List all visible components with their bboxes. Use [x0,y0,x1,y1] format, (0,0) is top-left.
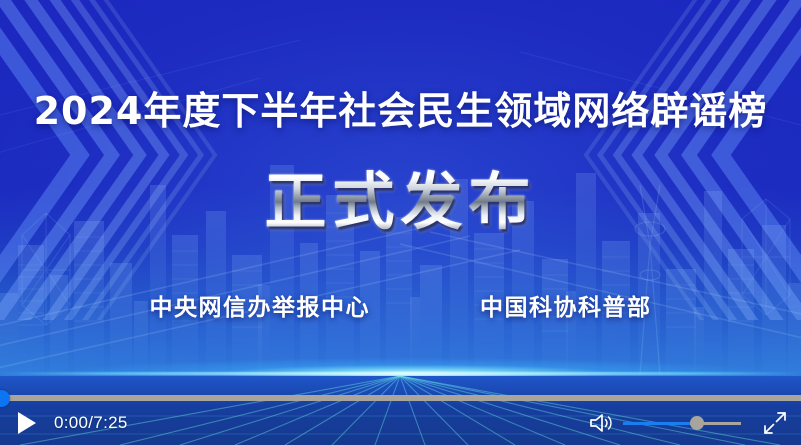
organization-name-1: 中央网信办举报中心 [150,288,371,322]
chevron-ribbon-right [571,0,801,320]
horizon-glow [0,358,801,388]
city-skyline-svg [0,125,801,375]
video-player[interactable]: 2024年度下半年社会民生领域网络辟谣榜 正式发布 中央网信办举报中心 中国科协… [0,0,801,445]
video-poster-frame[interactable]: 2024年度下半年社会民生领域网络辟谣榜 正式发布 中央网信办举报中心 中国科协… [0,0,801,445]
play-triangle-icon [18,412,36,434]
poster-text-block: 2024年度下半年社会民生领域网络辟谣榜 正式发布 中央网信办举报中心 中国科协… [0,0,801,445]
organization-name-2: 中国科协科普部 [480,288,652,322]
fullscreen-button[interactable] [763,411,787,435]
volume-slider-handle[interactable] [690,416,704,430]
player-control-bar[interactable]: 0:00/7:25 [0,390,801,445]
city-skyline-decoration [0,125,801,375]
chevron-ribbon-left [0,0,230,320]
volume-slider[interactable] [623,415,741,431]
volume-slider-fill [623,422,697,425]
light-streaks-decoration [0,0,801,445]
page-title: 2024年度下半年社会民生领域网络辟谣榜 [0,92,801,130]
horizon-line [0,372,801,375]
play-button[interactable] [14,410,40,436]
chevron-ribbon-left-svg [0,0,230,320]
sky-glow-decoration [0,0,801,427]
poster-subtitle: 正式发布 [0,168,801,236]
speaker-with-waves-icon [589,412,615,434]
time-display: 0:00/7:25 [54,413,128,433]
volume-button[interactable] [589,411,615,435]
expand-diagonal-arrows-icon [763,411,787,435]
organization-row: 中央网信办举报中心 中国科协科普部 [0,288,801,322]
control-row: 0:00/7:25 [0,401,801,445]
chevron-ribbon-right-svg [571,0,801,320]
